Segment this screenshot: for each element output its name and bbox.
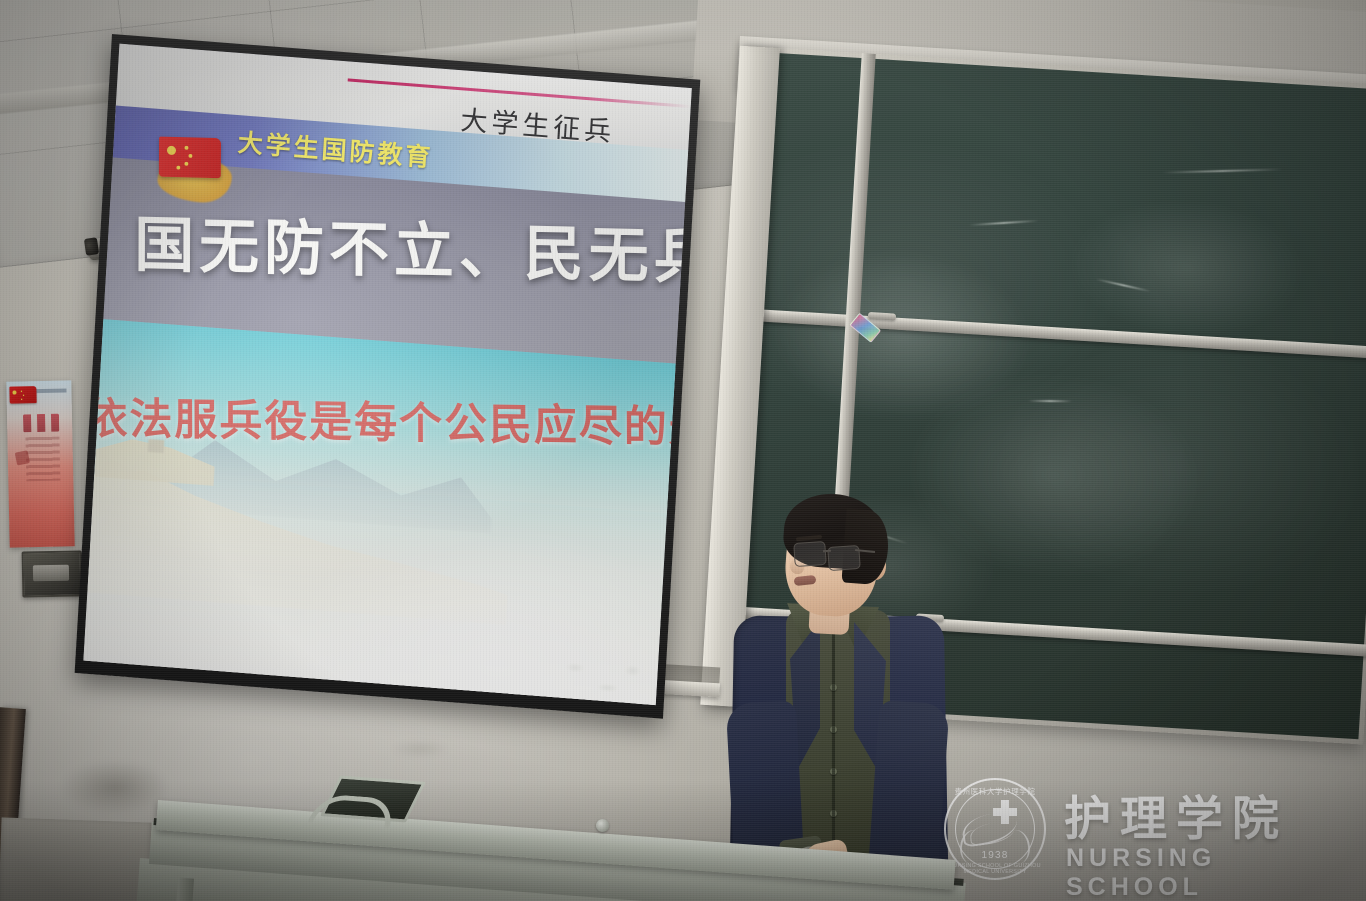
china-flag-icon	[159, 137, 221, 179]
camera-lens-icon	[84, 237, 99, 256]
wall-mark	[390, 740, 450, 758]
poster-text-columns	[25, 437, 60, 482]
classroom-scene: 大学生征兵 大学生国防教育 国无防不立、民无兵不安	[0, 0, 1366, 901]
floor-shadow	[0, 781, 1366, 901]
poster-header-bar	[36, 388, 66, 393]
screen-border: 大学生征兵 大学生国防教育 国无防不立、民无兵不安	[75, 34, 701, 719]
slide-headline: 国无防不立、民无兵不安	[134, 215, 692, 291]
china-flag-icon	[9, 386, 36, 404]
slide-photo	[83, 319, 675, 705]
slide-red-caption: 依法服兵役是每个公民应尽的光荣义务	[84, 384, 692, 457]
photo-haze-overlay	[83, 319, 675, 705]
projection-screen: 大学生征兵 大学生国防教育 国无防不立、民无兵不安	[75, 34, 701, 719]
poster-seal-icon	[15, 450, 30, 465]
nose	[790, 558, 804, 574]
wall-poster	[6, 380, 74, 547]
china-emblem	[150, 129, 240, 210]
poster-lantern-icons	[23, 414, 59, 433]
wall-electrical-plate	[22, 550, 83, 597]
projected-slide: 大学生征兵 大学生国防教育 国无防不立、民无兵不安	[83, 44, 691, 705]
